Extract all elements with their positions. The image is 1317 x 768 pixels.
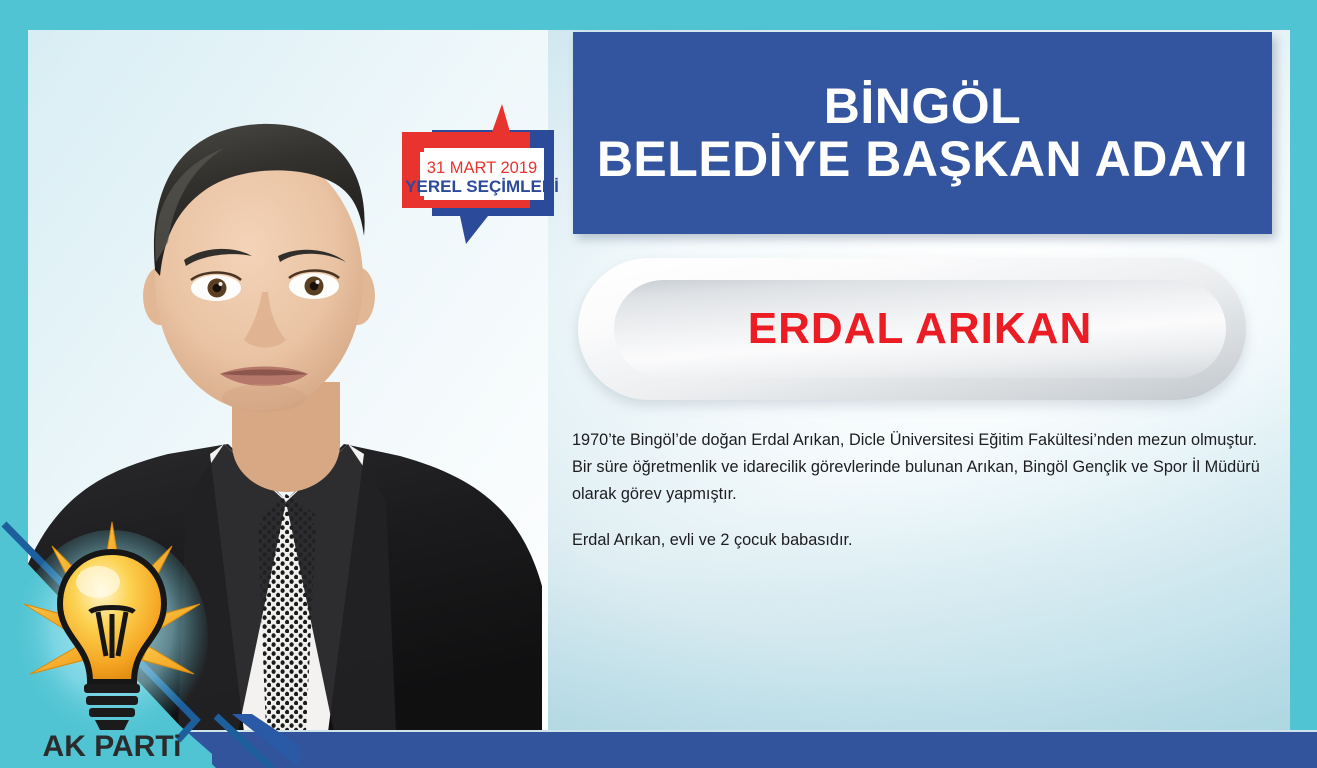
election-date-label: 31 MART 2019 (427, 159, 537, 177)
candidate-name: ERDAL ARIKAN (748, 304, 1092, 354)
biography-paragraph-1: 1970’te Bingöl’de doğan Erdal Arıkan, Di… (572, 427, 1278, 508)
poster-role-title: BELEDİYE BAŞKAN ADAYI (597, 133, 1248, 186)
election-type-label: YEREL SEÇİMLERİ (405, 177, 559, 196)
candidate-biography: 1970’te Bingöl’de doğan Erdal Arıkan, Di… (572, 427, 1278, 554)
frame-right (1290, 0, 1317, 768)
biography-paragraph-2: Erdal Arıkan, evli ve 2 çocuk babasıdır. (572, 527, 1278, 554)
election-poster: 31 MART 2019 YEREL SEÇİMLERİ BİNGÖL BELE… (0, 0, 1317, 768)
candidate-name-badge-inner: ERDAL ARIKAN (614, 280, 1226, 378)
party-name: AK PARTi (43, 730, 182, 763)
title-banner: BİNGÖL BELEDİYE BAŞKAN ADAYI (573, 32, 1272, 234)
frame-top (0, 0, 1317, 30)
candidate-name-badge: ERDAL ARIKAN (578, 258, 1246, 400)
poster-city-title: BİNGÖL (824, 80, 1021, 133)
election-logo: 31 MART 2019 YEREL SEÇİMLERİ (396, 104, 566, 244)
party-emblem-group: AK PARTi (0, 508, 300, 768)
